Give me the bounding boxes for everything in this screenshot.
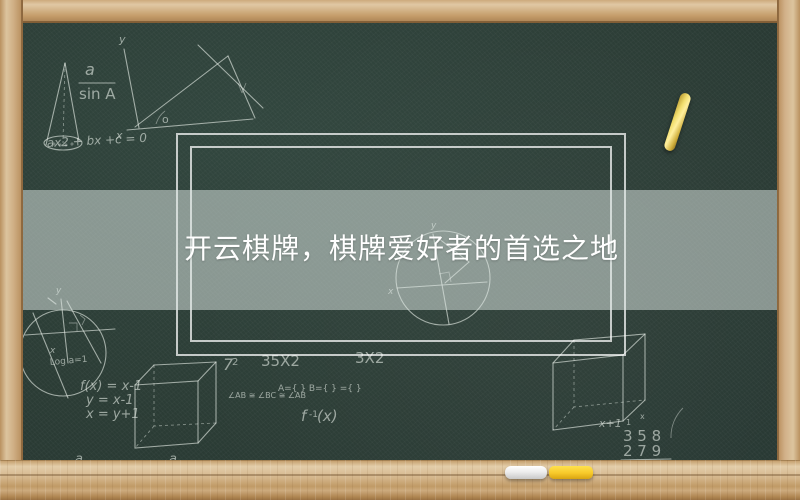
tray-lip-edge xyxy=(0,474,800,476)
svg-text:1: 1 xyxy=(626,418,631,427)
vertical-addition: x+1 1 x 3 5 8 2 7 9 6 3 7 xyxy=(598,412,671,460)
law-of-sines-fraction: a sin A xyxy=(79,60,116,103)
svg-text:y = x-1: y = x-1 xyxy=(85,393,134,408)
svg-text:o: o xyxy=(162,113,169,126)
law-of-sines-fraction-center: a sin A xyxy=(163,452,193,460)
tray-wood-grain xyxy=(0,460,800,500)
chalkboard-banner-image: a sin A y x o ax2 + bx +c = 0 f( xyxy=(0,0,800,500)
quadratic-equation-text: ax2 + bx +c = 0 xyxy=(46,131,147,150)
cube-sketch xyxy=(135,362,216,448)
frame-top-rail xyxy=(0,0,800,23)
svg-text:2: 2 xyxy=(232,357,238,368)
axis-angle-sketch: y x o xyxy=(115,33,263,142)
svg-text:a: a xyxy=(75,452,83,460)
svg-text:2 7 9: 2 7 9 xyxy=(623,442,661,460)
svg-text:y: y xyxy=(55,286,62,296)
function-equations: f(x) = x-1 y = x-1 x = y+1 xyxy=(80,379,142,422)
law-of-sines-fraction-left: a sin A xyxy=(69,452,99,460)
svg-text:x = y+1: x = y+1 xyxy=(85,407,140,422)
frame-right-rail xyxy=(777,0,800,500)
svg-text:a: a xyxy=(85,60,95,79)
svg-text:x: x xyxy=(640,412,645,421)
frame-left-rail xyxy=(0,0,23,500)
page-title: 开云棋牌，棋牌爱好者的首选之地 xyxy=(184,232,619,266)
set-notation-text: A={ } B={ } ={ } xyxy=(278,384,362,394)
white-chalk-stick xyxy=(505,466,547,479)
svg-text:y: y xyxy=(118,33,126,46)
frame-bottom-tray xyxy=(0,460,800,500)
svg-text:sin A: sin A xyxy=(79,85,116,103)
svg-text:a: a xyxy=(169,452,177,460)
svg-text:x+1: x+1 xyxy=(598,417,622,430)
inverse-function-text: f xyxy=(301,407,309,425)
yellow-chalk-stick-tray xyxy=(549,466,593,479)
svg-text:(x): (x) xyxy=(317,407,338,425)
svg-text:x: x xyxy=(49,346,56,356)
